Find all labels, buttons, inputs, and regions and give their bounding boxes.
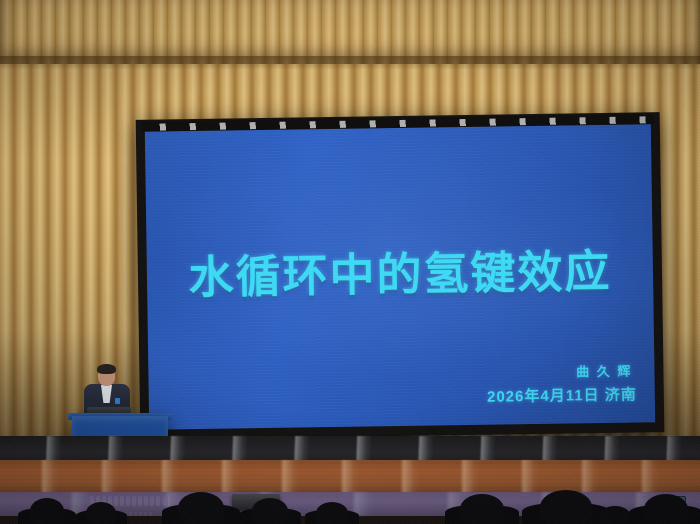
- audience-head: [178, 492, 224, 524]
- audience-head: [252, 498, 288, 524]
- speaker-badge: [115, 398, 120, 404]
- audience-silhouettes: [0, 486, 700, 524]
- audience-head: [86, 502, 116, 524]
- speaker-hair: [97, 364, 116, 374]
- audience-head: [316, 502, 348, 524]
- valance-edge-shadow: [0, 56, 700, 70]
- slide-title: 水循环中的氢键效应: [147, 248, 654, 301]
- slide-speaker-name: 曲 久 辉: [172, 365, 632, 385]
- audience-head: [540, 490, 592, 524]
- curtain-valance: [0, 0, 700, 64]
- audience-head: [644, 494, 688, 524]
- audience-head: [460, 494, 504, 524]
- audience-head: [600, 506, 630, 524]
- audience-head: [30, 498, 64, 524]
- auditorium-photo: 水循环中的氢键效应 曲 久 辉 2026年4月11日 济南: [0, 0, 700, 524]
- projection-screen: 水循环中的氢键效应 曲 久 辉 2026年4月11日 济南: [136, 112, 665, 440]
- screen-surface: 水循环中的氢键效应 曲 久 辉 2026年4月11日 济南: [145, 124, 655, 429]
- slide-date-and-place: 2026年4月11日 济南: [167, 388, 637, 410]
